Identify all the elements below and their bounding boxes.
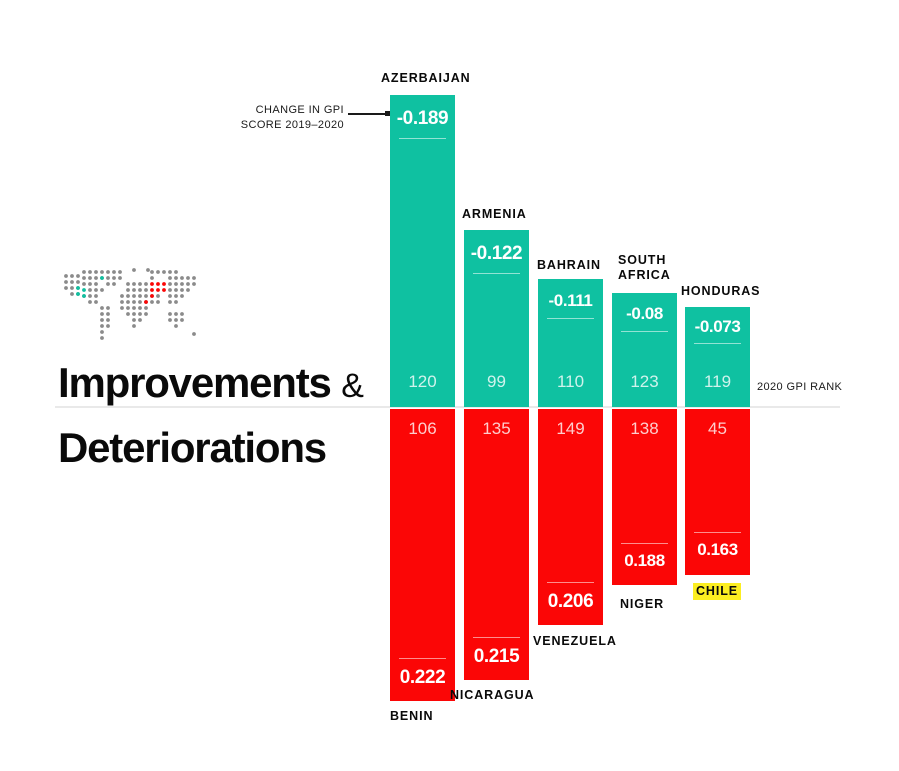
bar-value-down: 0.163 xyxy=(685,540,750,560)
country-label-up: BAHRAIN xyxy=(537,258,601,273)
improvements-deteriorations-chart: AZERBAIJAN -0.189 120 106 0.222 BENIN AR… xyxy=(0,0,899,771)
value-underline xyxy=(399,658,446,659)
country-label-up: SOUTH AFRICA xyxy=(618,253,671,283)
country-label-down: NICARAGUA xyxy=(450,688,535,703)
bar-deterioration[interactable]: 135 0.215 xyxy=(464,409,529,680)
bar-deterioration[interactable]: 138 0.188 xyxy=(612,409,677,585)
bar-rank-up: 99 xyxy=(464,372,529,392)
bar-improvement[interactable]: -0.073 119 xyxy=(685,307,750,407)
bar-improvement[interactable]: -0.111 110 xyxy=(538,279,603,407)
bar-rank-up: 110 xyxy=(538,372,603,392)
bar-improvement[interactable]: -0.122 99 xyxy=(464,230,529,407)
country-label-down: NIGER xyxy=(620,597,664,612)
country-label-up: ARMENIA xyxy=(462,207,527,222)
bar-value-up: -0.189 xyxy=(390,108,455,130)
value-underline xyxy=(621,543,668,544)
bar-improvement[interactable]: -0.189 120 xyxy=(390,95,455,407)
bar-value-up: -0.08 xyxy=(612,304,677,324)
bar-rank-up: 123 xyxy=(612,372,677,392)
bar-deterioration[interactable]: 45 0.163 xyxy=(685,409,750,575)
bar-value-up: -0.111 xyxy=(538,291,603,311)
bar-rank-down: 45 xyxy=(685,419,750,439)
value-underline xyxy=(473,273,520,274)
value-underline xyxy=(621,331,668,332)
bar-value-down: 0.206 xyxy=(538,591,603,613)
value-underline xyxy=(473,637,520,638)
bar-deterioration[interactable]: 149 0.206 xyxy=(538,409,603,625)
country-label-up: HONDURAS xyxy=(681,284,760,299)
bar-rank-down: 149 xyxy=(538,419,603,439)
country-label-down: VENEZUELA xyxy=(533,634,617,649)
value-underline xyxy=(694,532,741,533)
country-label-down: BENIN xyxy=(390,709,433,724)
bar-rank-up: 120 xyxy=(390,372,455,392)
country-label-up: AZERBAIJAN xyxy=(381,71,471,86)
country-label-up-line1: SOUTH xyxy=(618,253,671,268)
bar-value-down: 0.215 xyxy=(464,646,529,668)
bar-rank-down: 106 xyxy=(390,419,455,439)
bar-value-up: -0.073 xyxy=(685,317,750,337)
value-underline xyxy=(547,582,594,583)
bar-rank-down: 138 xyxy=(612,419,677,439)
bar-improvement[interactable]: -0.08 123 xyxy=(612,293,677,407)
bar-value-up: -0.122 xyxy=(464,243,529,265)
bar-rank-up: 119 xyxy=(685,372,750,392)
bar-value-down: 0.222 xyxy=(390,667,455,689)
country-label-down: CHILE xyxy=(693,583,741,600)
bar-rank-down: 135 xyxy=(464,419,529,439)
value-underline xyxy=(399,138,446,139)
country-label-up-line2: AFRICA xyxy=(618,268,671,283)
value-underline xyxy=(694,343,741,344)
bar-value-down: 0.188 xyxy=(612,551,677,571)
bar-deterioration[interactable]: 106 0.222 xyxy=(390,409,455,701)
value-underline xyxy=(547,318,594,319)
